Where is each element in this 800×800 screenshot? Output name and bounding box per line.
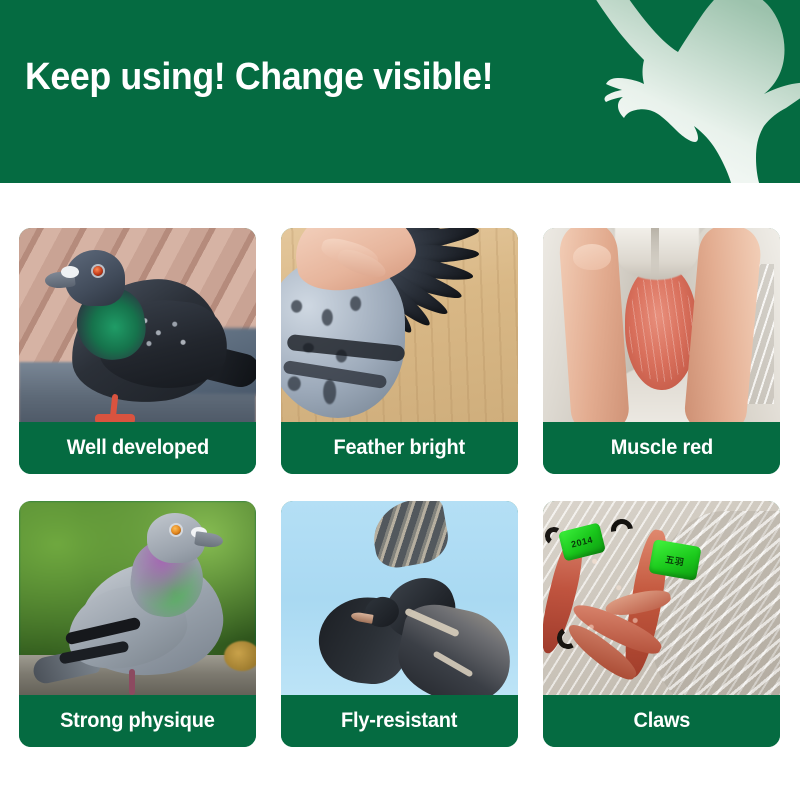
card-photo-claws: 2014 五羽 (543, 501, 780, 697)
card-photo-muscle-red (543, 228, 780, 424)
perch-nub (224, 641, 256, 671)
fingernail (573, 244, 611, 270)
feature-card-well-developed[interactable]: Well developed (19, 228, 256, 474)
pigeon-leg (129, 669, 135, 695)
card-photo-fly-resistant (281, 501, 518, 697)
card-label-fly-resistant: Fly-resistant (281, 695, 518, 747)
feature-card-grid: Well developed (19, 228, 783, 747)
feature-card-fly-resistant[interactable]: Fly-resistant (281, 501, 518, 747)
feature-card-muscle-red[interactable]: Muscle red (543, 228, 780, 474)
card-label-feather-bright: Feather bright (281, 422, 518, 474)
breast-muscle-texture (629, 274, 693, 382)
card-label-well-developed: Well developed (19, 422, 256, 474)
card-label-strong-physique: Strong physique (19, 695, 256, 747)
feature-card-feather-bright[interactable]: Feather bright (281, 228, 518, 474)
pigeon-cere (61, 266, 79, 278)
card-label-text: Feather bright (334, 436, 465, 460)
card-label-text: Well developed (66, 436, 208, 460)
pigeon-eye (171, 525, 181, 535)
card-label-text: Fly-resistant (341, 709, 457, 733)
card-label-muscle-red: Muscle red (543, 422, 780, 474)
header-banner: Keep using! Change visible! (0, 0, 800, 183)
feature-card-claws[interactable]: 2014 五羽 Claws (543, 501, 780, 747)
feature-card-strong-physique[interactable]: Strong physique (19, 501, 256, 747)
card-photo-feather-bright (281, 228, 518, 424)
promo-page: Keep using! Change visible! (0, 0, 800, 800)
card-label-text: Claws (633, 709, 690, 733)
card-photo-well-developed (19, 228, 256, 424)
pigeon-eye (93, 266, 103, 276)
card-label-text: Muscle red (610, 436, 712, 460)
card-label-text: Strong physique (60, 709, 215, 733)
flying-bird-silhouette-icon (550, 0, 800, 183)
card-photo-strong-physique (19, 501, 256, 697)
card-label-claws: Claws (543, 695, 780, 747)
page-title: Keep using! Change visible! (25, 56, 493, 99)
plume-split (651, 228, 659, 276)
